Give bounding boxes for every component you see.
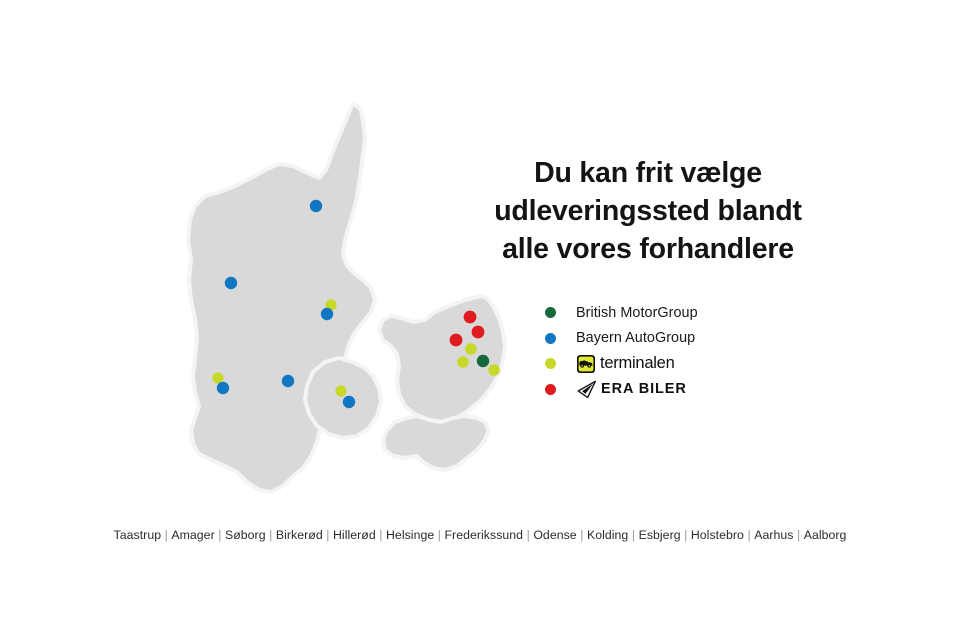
map-dot-odense-lime[interactable] bbox=[335, 385, 346, 396]
legend-item-british-motorgroup[interactable]: British MotorGroup bbox=[545, 300, 805, 326]
city-name-helsinge: Helsinge bbox=[386, 528, 434, 542]
headline-line-3: alle vores forhandlere bbox=[448, 231, 848, 269]
city-separator: | bbox=[744, 528, 754, 542]
headline: Du kan frit vælge udleveringssted blandt… bbox=[448, 155, 848, 269]
terminalen-logo: terminalen bbox=[576, 354, 675, 374]
city-name-taastrup: Taastrup bbox=[114, 528, 162, 542]
city-name-s-borg: Søborg bbox=[225, 528, 266, 542]
map-dot-aalborg[interactable] bbox=[310, 200, 322, 212]
landmass-lolland-falster bbox=[383, 416, 489, 470]
city-name-birker-d: Birkerød bbox=[276, 528, 323, 542]
city-list: Taastrup|Amager|Søborg|Birkerød|Hillerød… bbox=[0, 528, 960, 542]
city-separator: | bbox=[376, 528, 386, 542]
city-name-aalborg: Aalborg bbox=[804, 528, 847, 542]
slide-canvas: Du kan frit vælge udleveringssted blandt… bbox=[0, 0, 960, 640]
city-separator: | bbox=[523, 528, 533, 542]
legend-label-bayern-autogroup: Bayern AutoGroup bbox=[576, 330, 695, 346]
legend-dot-british-motorgroup bbox=[545, 307, 556, 318]
map-dot-amager[interactable] bbox=[488, 364, 500, 376]
map-dot-aarhus-blue[interactable] bbox=[321, 308, 333, 320]
city-name-amager: Amager bbox=[171, 528, 214, 542]
map-dot-holstebro[interactable] bbox=[225, 277, 237, 289]
era-biler-triangle-icon bbox=[576, 380, 598, 399]
city-name-aarhus: Aarhus bbox=[754, 528, 793, 542]
city-separator: | bbox=[266, 528, 276, 542]
city-name-holstebro: Holstebro bbox=[691, 528, 744, 542]
map-dot-kolding[interactable] bbox=[282, 375, 294, 387]
legend-dot-era-biler bbox=[545, 384, 556, 395]
map-dot-helsinge[interactable] bbox=[464, 311, 477, 324]
city-separator: | bbox=[577, 528, 587, 542]
map-dot-birkerod[interactable] bbox=[465, 343, 477, 355]
legend-item-terminalen[interactable]: terminalen bbox=[545, 351, 805, 377]
city-separator: | bbox=[793, 528, 803, 542]
brand-legend: British MotorGroup Bayern AutoGroup term… bbox=[545, 300, 805, 402]
city-name-hiller-d: Hillerød bbox=[333, 528, 376, 542]
landmass-funen bbox=[305, 358, 381, 438]
city-separator: | bbox=[215, 528, 225, 542]
map-dot-taastrup[interactable] bbox=[457, 356, 469, 368]
era-biler-wordmark: ERA BILER bbox=[601, 381, 687, 397]
legend-label-british-motorgroup: British MotorGroup bbox=[576, 305, 698, 321]
map-dot-esbjerg-blue[interactable] bbox=[217, 382, 229, 394]
city-separator: | bbox=[323, 528, 333, 542]
legend-item-bayern-autogroup[interactable]: Bayern AutoGroup bbox=[545, 326, 805, 352]
legend-dot-terminalen bbox=[545, 358, 556, 369]
city-name-esbjerg: Esbjerg bbox=[639, 528, 681, 542]
headline-line-2: udleveringssted blandt bbox=[448, 193, 848, 231]
legend-dot-bayern-autogroup bbox=[545, 333, 556, 344]
legend-item-era-biler[interactable]: ERA BILER bbox=[545, 377, 805, 403]
terminalen-mark-icon bbox=[576, 354, 596, 374]
map-dot-hillerod[interactable] bbox=[472, 326, 485, 339]
headline-line-1: Du kan frit vælge bbox=[448, 155, 848, 193]
map-dot-odense-blue[interactable] bbox=[343, 396, 355, 408]
city-name-frederikssund: Frederikssund bbox=[445, 528, 524, 542]
city-name-kolding: Kolding bbox=[587, 528, 628, 542]
terminalen-wordmark: terminalen bbox=[600, 354, 675, 373]
city-separator: | bbox=[434, 528, 444, 542]
map-dot-frederikssund[interactable] bbox=[450, 334, 463, 347]
city-separator: | bbox=[681, 528, 691, 542]
map-dot-soborg[interactable] bbox=[477, 355, 489, 367]
era-biler-logo: ERA BILER bbox=[576, 380, 687, 399]
city-separator: | bbox=[628, 528, 638, 542]
city-separator: | bbox=[161, 528, 171, 542]
city-name-odense: Odense bbox=[533, 528, 576, 542]
